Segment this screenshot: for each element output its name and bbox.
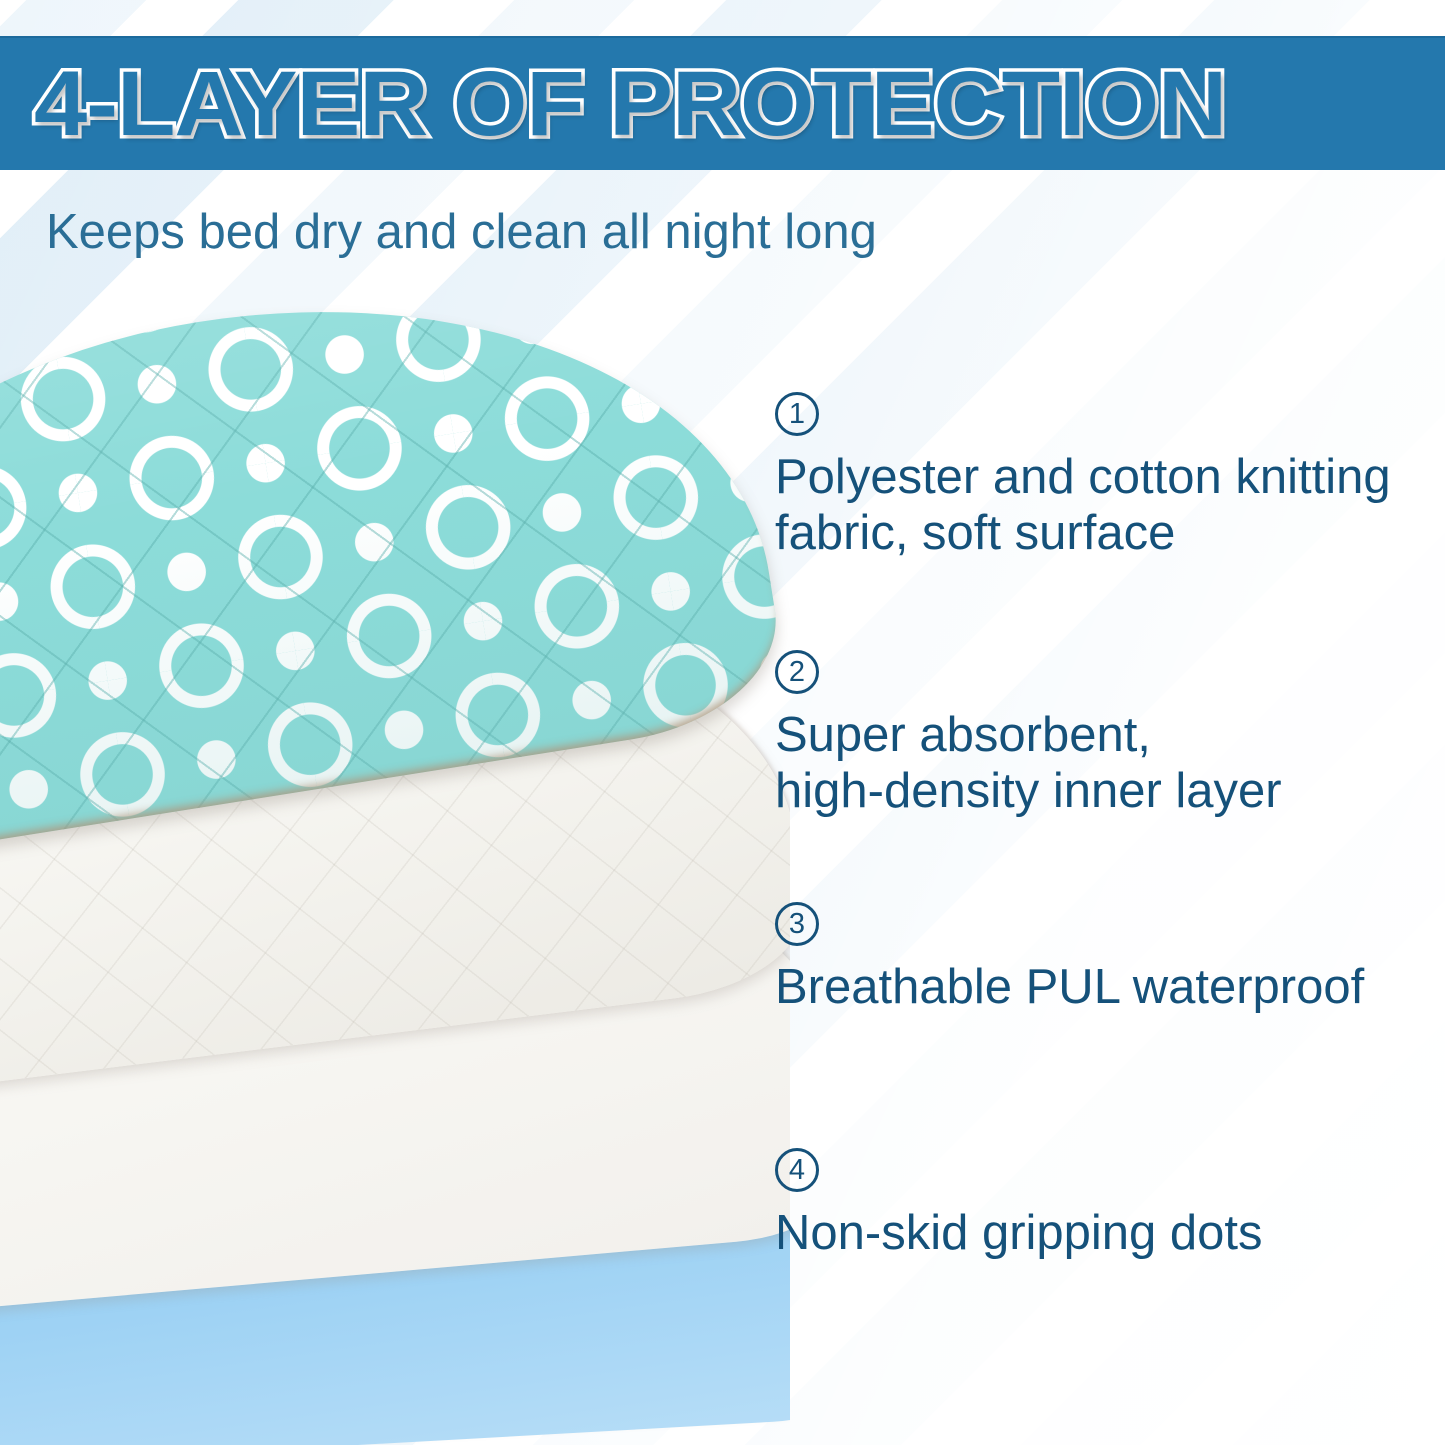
feature-label-1: Polyester and cotton knitting fabric, so… — [775, 450, 1435, 562]
circled-number-4-icon: 4 — [775, 1148, 819, 1192]
product-layer-stack-image — [0, 296, 790, 1445]
infographic-canvas: 4-LAYER OF PROTECTION Keeps bed dry and … — [0, 0, 1445, 1445]
circled-number-1-icon: 1 — [775, 392, 819, 436]
feature-item-1: 1 Polyester and cotton knitting fabric, … — [775, 392, 1435, 562]
page-title: 4-LAYER OF PROTECTION — [34, 58, 1226, 150]
feature-label-3: Breathable PUL waterproof — [775, 960, 1435, 1016]
subtitle: Keeps bed dry and clean all night long — [46, 204, 877, 260]
feature-label-4: Non-skid gripping dots — [775, 1206, 1435, 1262]
header-banner: 4-LAYER OF PROTECTION — [0, 36, 1445, 170]
feature-label-2: Super absorbent, high-density inner laye… — [775, 708, 1435, 820]
feature-item-2: 2 Super absorbent, high-density inner la… — [775, 650, 1435, 820]
feature-item-3: 3 Breathable PUL waterproof — [775, 902, 1435, 1016]
feature-item-4: 4 Non-skid gripping dots — [775, 1148, 1435, 1262]
circled-number-3-icon: 3 — [775, 902, 819, 946]
circled-number-2-icon: 2 — [775, 650, 819, 694]
